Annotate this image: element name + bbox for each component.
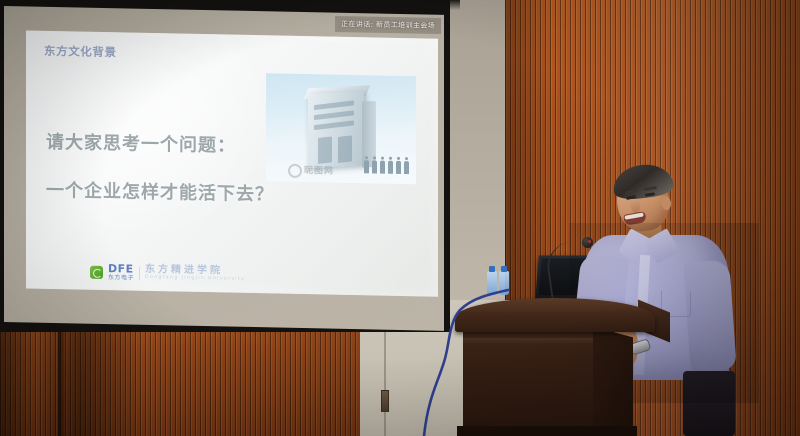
photo-watermark: 昵图网: [304, 163, 334, 177]
podium-top-surface: [455, 298, 655, 332]
brand-name-cn: 东方电子: [108, 274, 134, 282]
speaker-right-arm: [683, 260, 737, 373]
water-bottle-2: [499, 271, 509, 295]
presentation-slide: 东方文化背景 请大家思考一个问题： 一个企业怎样才能活下去？: [26, 30, 438, 296]
slide-body-line-1: 请大家思考一个问题：: [46, 128, 236, 158]
projection-screen-frame: 东方文化背景 请大家思考一个问题： 一个企业怎样才能活下去？: [0, 0, 450, 332]
monument-body: [308, 91, 364, 168]
wood-panel-seam: [58, 318, 64, 436]
podium-side-panel: [593, 327, 633, 436]
speaker-teeth: [624, 213, 643, 220]
institute-name-en: Dongfang Jingjin University: [145, 275, 245, 284]
wall-outlet-plate: [381, 390, 389, 412]
podium: [455, 298, 670, 436]
projection-screen-surface: 东方文化背景 请大家思考一个问题： 一个企业怎样才能活下去？: [4, 6, 444, 331]
wall-strip-between-screen-and-wood: [443, 0, 507, 300]
slide-photo-win-monument: 昵图网: [266, 73, 416, 184]
speaker-trousers: [683, 371, 735, 436]
wood-slat-wall-lower-left: [0, 318, 360, 436]
podium-front-panel: [463, 328, 595, 436]
lecture-hall-scene: 东方文化背景 请大家思考一个问题： 一个企业怎样才能活下去？: [0, 0, 800, 436]
slide-footer-logo: DFE 东方电子 东方精进学院 Dongfang Jingjin Univers…: [90, 263, 245, 285]
dfe-logo-icon: [90, 266, 103, 279]
logo-divider: [139, 267, 140, 280]
brand-abbr: DFE: [108, 263, 134, 275]
slide-body-line-2: 一个企业怎样才能活下去？: [46, 176, 274, 207]
water-bottle-1: [487, 271, 497, 295]
podium-base: [457, 426, 637, 436]
wall-seam-line: [384, 318, 386, 436]
watermark-ring-icon: [288, 164, 302, 178]
now-speaking-banner: 正在讲话: 新员工培训主会场: [335, 16, 441, 34]
slide-title: 东方文化背景: [44, 43, 117, 60]
